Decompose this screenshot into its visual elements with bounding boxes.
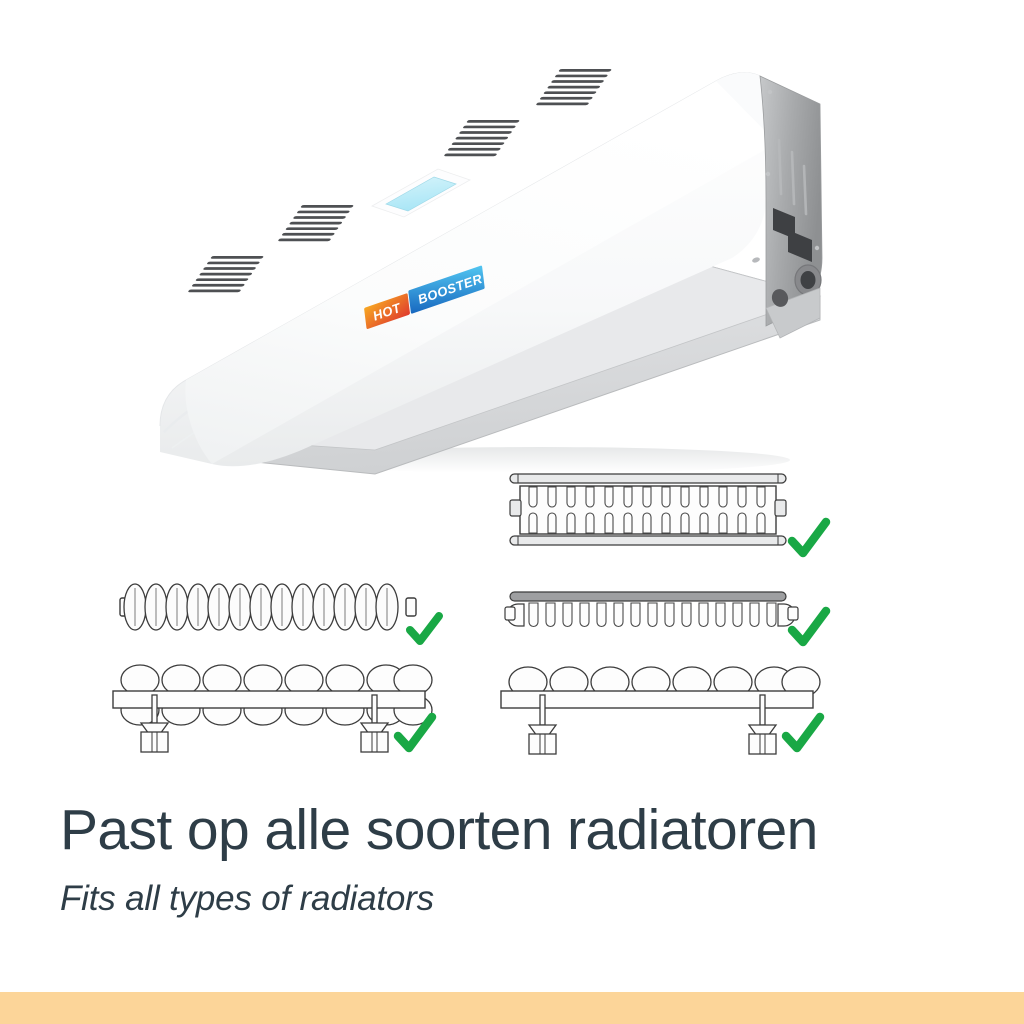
top-rail bbox=[510, 474, 786, 483]
top-rail bbox=[510, 592, 786, 601]
diagram-panel-single-convector bbox=[496, 578, 836, 658]
display-panel[interactable] bbox=[372, 169, 470, 217]
center-bar bbox=[501, 691, 813, 708]
center-bar bbox=[113, 691, 425, 708]
bottom-accent-band bbox=[0, 992, 1024, 1024]
caption-block: Past op alle soorten radiatoren Fits all… bbox=[60, 800, 980, 919]
diagram-panel-double-convector bbox=[496, 462, 836, 568]
green-check-icon bbox=[786, 717, 820, 748]
product-feature-slide: HOT BOOSTER bbox=[0, 0, 1024, 1024]
green-check-icon bbox=[792, 522, 826, 553]
end-cap bbox=[760, 76, 822, 326]
convector-fins bbox=[529, 603, 776, 627]
headline-dutch: Past op alle soorten radiatoren bbox=[60, 800, 980, 860]
diagram-column-radiator bbox=[108, 566, 448, 666]
diagram-tube-single-row bbox=[496, 662, 836, 772]
subtitle-english: Fits all types of radiators bbox=[60, 880, 980, 919]
product-image: HOT BOOSTER bbox=[120, 8, 910, 478]
green-check-icon bbox=[410, 616, 439, 641]
bottom-rail bbox=[510, 536, 786, 545]
diagram-tube-double-row bbox=[108, 662, 448, 772]
